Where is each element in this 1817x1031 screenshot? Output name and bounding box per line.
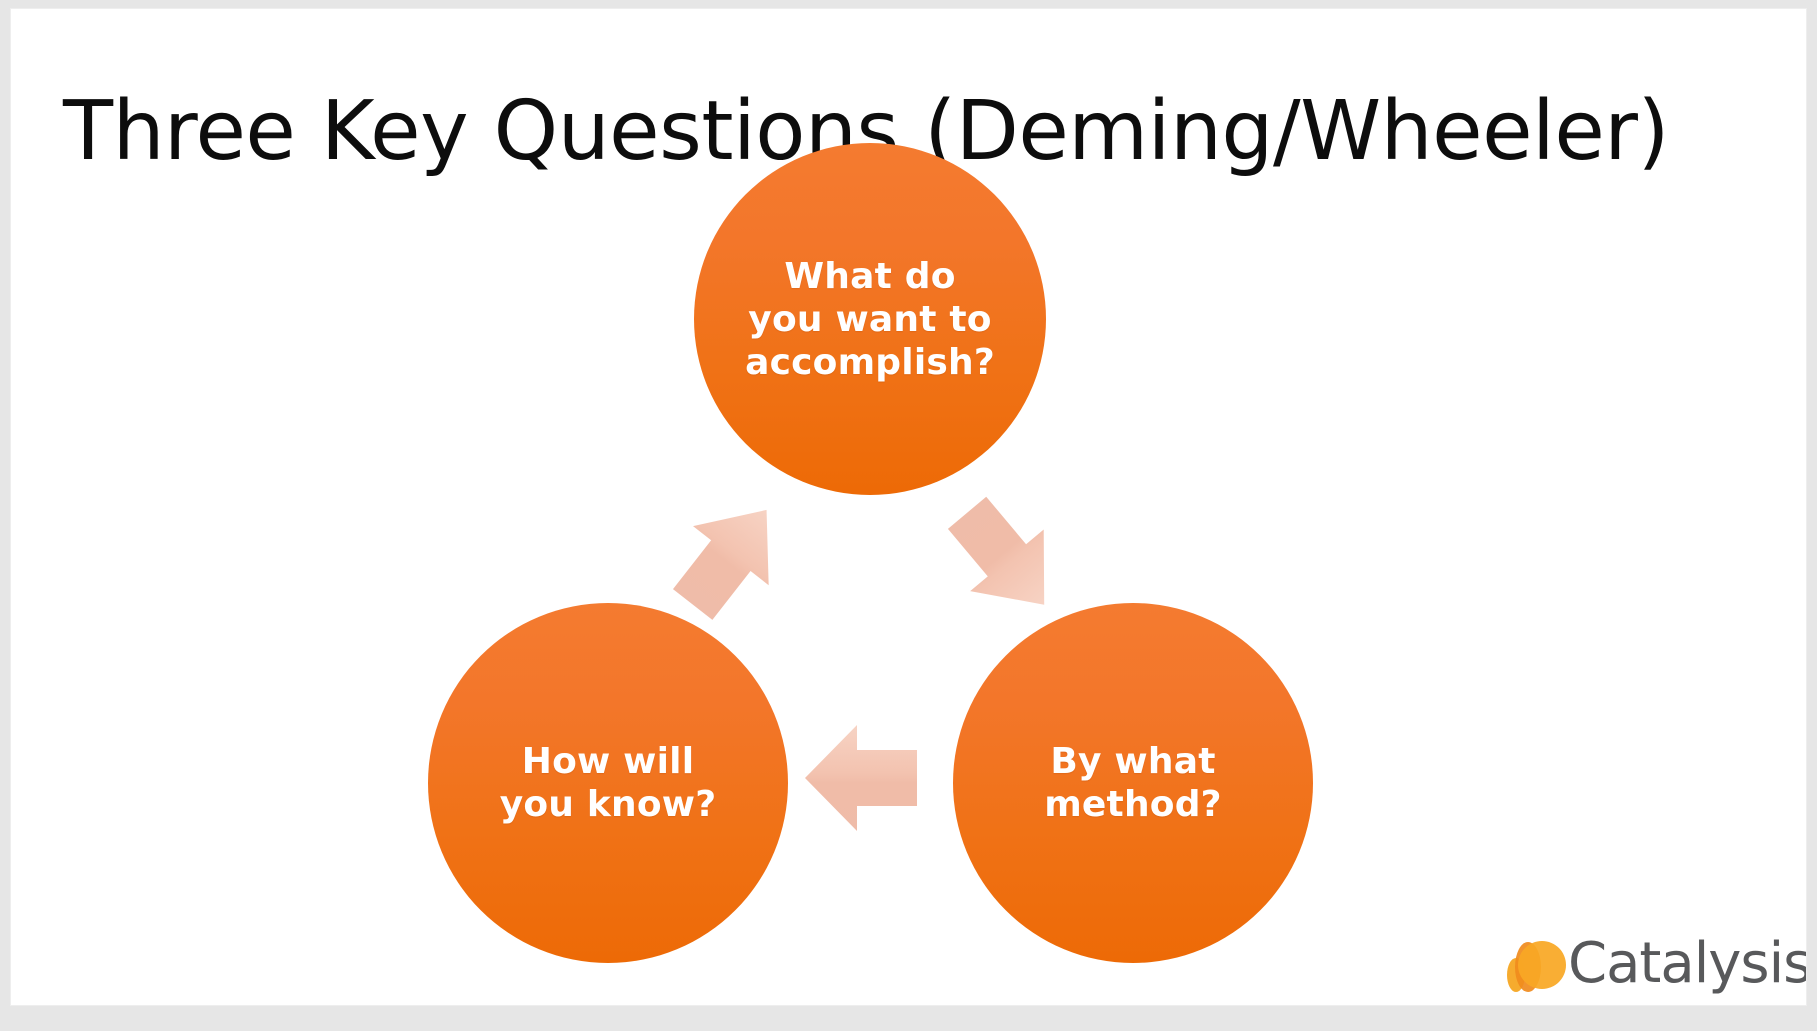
arrow-method-to-know: [801, 719, 921, 842]
cycle-node-method-label: By what method?: [1010, 740, 1256, 826]
cycle-node-accomplish[interactable]: What do you want to accomplish?: [694, 143, 1046, 495]
cycle-node-know-label: How will you know?: [465, 740, 751, 826]
cycle-node-accomplish-label: What do you want to accomplish?: [727, 255, 1013, 384]
cycle-node-method[interactable]: By what method?: [953, 603, 1313, 963]
slide-canvas: Three Key Questions (Deming/Wheeler): [11, 9, 1806, 1005]
brand-logo: Catalysis: [1504, 925, 1772, 1003]
arrow-know-to-accomplish: [659, 493, 799, 628]
catalysis-petal-icon: [1504, 935, 1566, 993]
cycle-node-know[interactable]: How will you know?: [428, 603, 788, 963]
brand-logo-text: Catalysis: [1568, 935, 1806, 993]
slide-frame: Three Key Questions (Deming/Wheeler): [0, 0, 1817, 1031]
cycle-diagram: What do you want to accomplish? How will…: [11, 9, 1806, 1005]
arrow-accomplish-to-method: [935, 493, 1075, 628]
